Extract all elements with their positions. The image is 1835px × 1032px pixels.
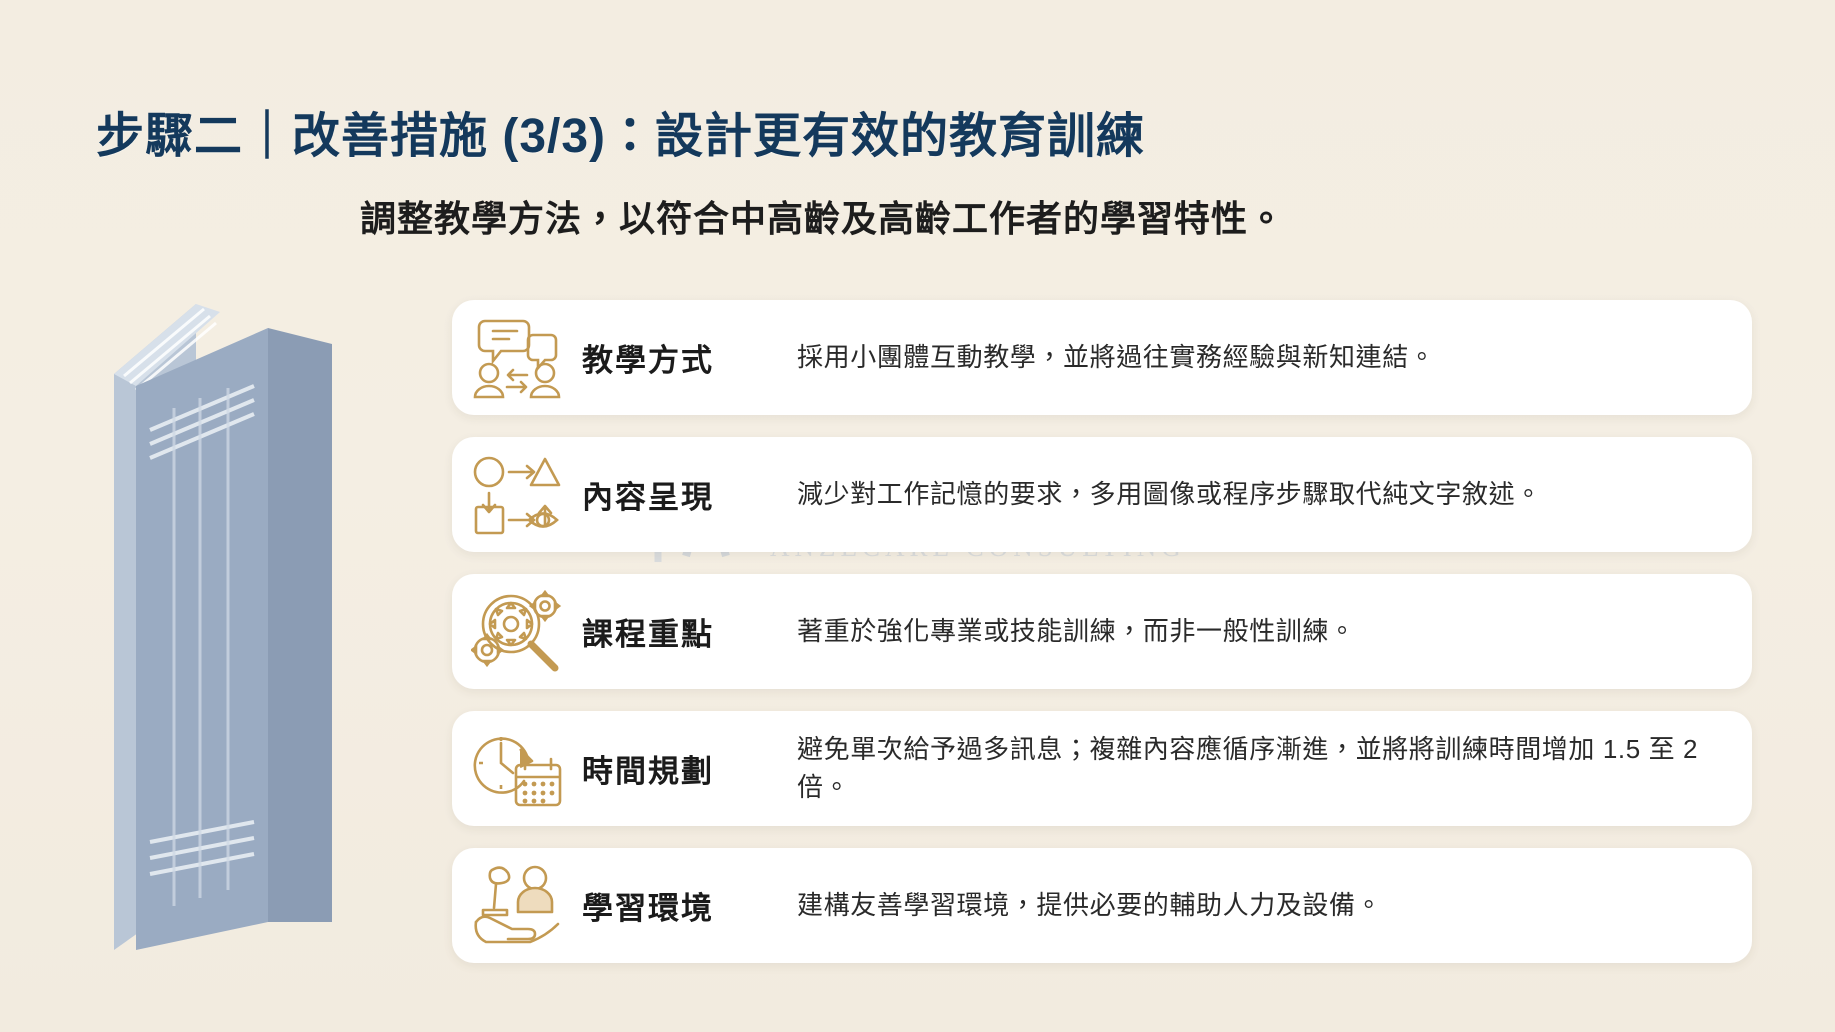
card-description: 減少對工作記憶的要求，多用圖像或程序步驟取代純文字敘述。 <box>797 476 1752 514</box>
clock-calendar-icon <box>452 727 582 811</box>
shapes-flow-eye-icon <box>452 455 582 535</box>
card-row[interactable]: 教學方式 採用小團體互動教學，並將過往實務經驗與新知連結。 <box>452 300 1752 415</box>
card-row[interactable]: 時間規劃 避免單次給予過多訊息；複雜內容應循序漸進，並將將訓練時間增加 1.5 … <box>452 711 1752 826</box>
lamp-person-hand-icon <box>452 864 582 948</box>
magnifier-gears-icon <box>452 588 582 676</box>
cards-list: 教學方式 採用小團體互動教學，並將過往實務經驗與新知連結。 內容呈現 <box>452 300 1752 985</box>
card-label: 學習環境 <box>582 883 797 928</box>
page-title: 步驟二｜改善措施 (3/3)：設計更有效的教育訓練 <box>96 96 1145 166</box>
card-description: 著重於強化專業或技能訓練，而非一般性訓練。 <box>797 613 1752 651</box>
books-illustration <box>78 282 368 962</box>
card-description: 採用小團體互動教學，並將過往實務經驗與新知連結。 <box>797 339 1752 377</box>
card-label: 時間規劃 <box>582 746 797 791</box>
card-row[interactable]: 內容呈現 減少對工作記憶的要求，多用圖像或程序步驟取代純文字敘述。 <box>452 437 1752 552</box>
page-subtitle: 調整教學方法，以符合中高齡及高齡工作者的學習特性。 <box>360 190 1285 242</box>
card-row[interactable]: 學習環境 建構友善學習環境，提供必要的輔助人力及設備。 <box>452 848 1752 963</box>
card-label: 內容呈現 <box>582 472 797 517</box>
slide: 步驟二｜改善措施 (3/3)：設計更有效的教育訓練 調整教學方法，以符合中高齡及… <box>0 0 1835 1032</box>
card-row[interactable]: 課程重點 著重於強化專業或技能訓練，而非一般性訓練。 <box>452 574 1752 689</box>
card-label: 教學方式 <box>582 335 797 380</box>
card-description: 建構友善學習環境，提供必要的輔助人力及設備。 <box>797 887 1752 925</box>
discussion-bubbles-people-icon <box>452 315 582 401</box>
card-label: 課程重點 <box>582 609 797 654</box>
card-description: 避免單次給予過多訊息；複雜內容應循序漸進，並將將訓練時間增加 1.5 至 2 倍… <box>797 731 1752 806</box>
